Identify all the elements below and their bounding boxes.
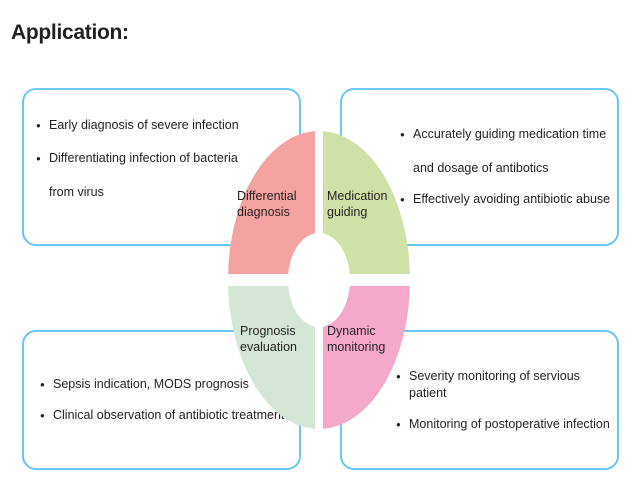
segment-label-prognosis-evaluation: Prognosis evaluation [240, 323, 316, 355]
page-title: Application: [11, 21, 129, 45]
application-diagram-canvas: Application: Early diagnosis of severe i… [0, 0, 641, 501]
segment-label-medication-guiding: Medication guiding [327, 188, 403, 220]
list-item: Effectively avoiding antibiotic abuse [400, 191, 611, 208]
segment-label-dynamic-monitoring: Dynamic monitoring [327, 323, 403, 355]
segment-label-differential-diagnosis: Differential diagnosis [237, 188, 311, 220]
list-item: Severity monitoring of servious patient [396, 368, 611, 402]
donut-ring-diagram: Differential diagnosis Medication guidin… [228, 131, 410, 429]
list-item: Accurately guiding medication time and d… [400, 126, 611, 177]
list-item: Monitoring of postoperative infection [396, 416, 611, 433]
donut-ring-svg [228, 131, 410, 429]
